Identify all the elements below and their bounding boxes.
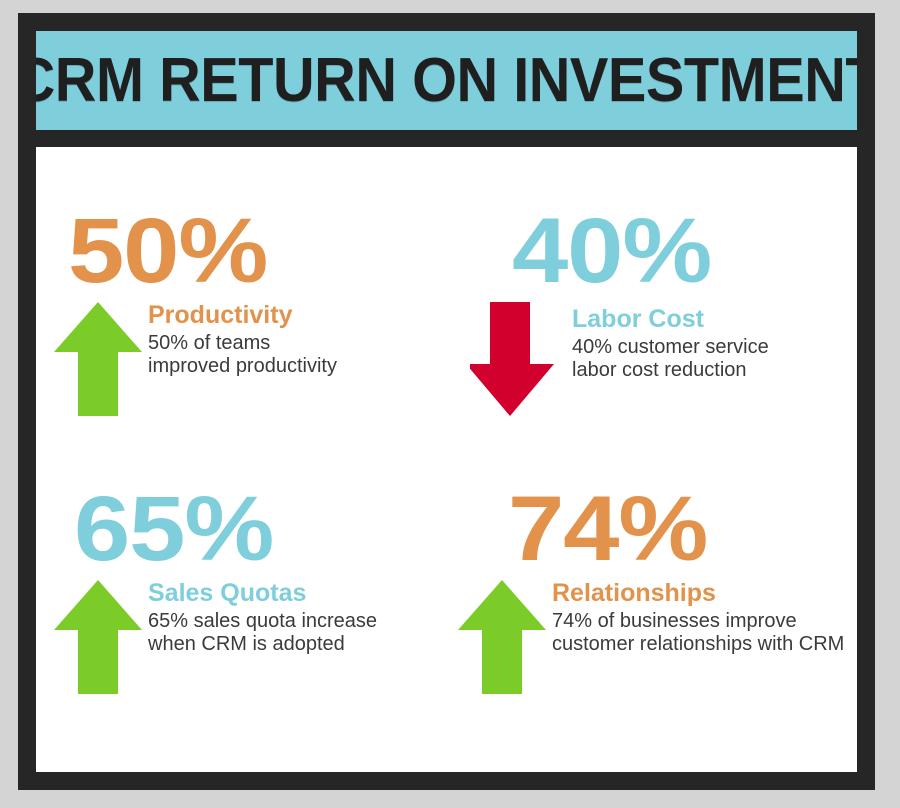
stat-body-labor-cost: Labor Cost 40% customer service labor co…	[470, 300, 870, 420]
stat-label-relationships: Relationships	[552, 580, 852, 606]
stat-card-sales-quotas: 65% Sales Quotas 65% sales quota increas…	[52, 487, 452, 698]
stat-card-labor-cost: 40% Labor Cost 40% customer service labo…	[470, 209, 870, 420]
stat-description-sales-quotas: 65% sales quota increase when CRM is ado…	[148, 610, 448, 656]
stat-label-labor-cost: Labor Cost	[572, 306, 872, 332]
arrow-up-icon	[456, 578, 548, 696]
stat-body-relationships: Relationships 74% of businesses improve …	[456, 578, 856, 698]
stat-body-productivity: Productivity 50% of teams improved produ…	[52, 300, 452, 420]
stat-description-relationships: 74% of businesses improve customer relat…	[552, 610, 852, 656]
stat-label-sales-quotas: Sales Quotas	[148, 580, 448, 606]
infographic-root: CRM RETURN ON INVESTMENT 50% Productivit…	[0, 0, 900, 808]
stats-grid: 50% Productivity 50% of teams improved p…	[36, 147, 857, 772]
stat-number-relationships: 74%	[508, 487, 891, 572]
stat-card-productivity: 50% Productivity 50% of teams improved p…	[52, 209, 452, 420]
page-title: CRM RETURN ON INVESTMENT	[36, 50, 857, 112]
arrow-down-icon	[470, 300, 562, 418]
stat-text-relationships: Relationships 74% of businesses improve …	[552, 580, 852, 656]
title-band: CRM RETURN ON INVESTMENT	[36, 31, 857, 130]
content-panel: 50% Productivity 50% of teams improved p…	[36, 147, 857, 772]
stat-label-productivity: Productivity	[148, 302, 448, 328]
stat-text-labor-cost: Labor Cost 40% customer service labor co…	[572, 306, 872, 382]
arrow-up-icon	[52, 300, 144, 418]
stat-number-labor-cost: 40%	[512, 209, 900, 294]
stat-description-labor-cost: 40% customer service labor cost reductio…	[572, 336, 872, 382]
stat-text-sales-quotas: Sales Quotas 65% sales quota increase wh…	[148, 580, 448, 656]
stat-description-productivity: 50% of teams improved productivity	[148, 332, 448, 378]
stat-card-relationships: 74% Relationships 74% of businesses impr…	[456, 487, 856, 698]
arrow-up-icon	[52, 578, 144, 696]
stat-text-productivity: Productivity 50% of teams improved produ…	[148, 302, 448, 378]
stat-number-sales-quotas: 65%	[74, 487, 490, 572]
stat-number-productivity: 50%	[68, 209, 490, 294]
stat-body-sales-quotas: Sales Quotas 65% sales quota increase wh…	[52, 578, 452, 698]
